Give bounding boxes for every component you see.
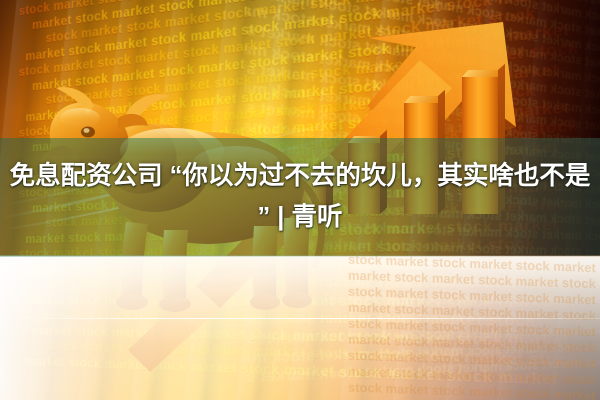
caption-line-2: ” | 青听 bbox=[2, 197, 598, 238]
caption-text: 免息配资公司 “你以为过不去的坎儿，其实啥也不是 ” | 青听 bbox=[0, 156, 600, 238]
caption-line-1: 免息配资公司 “你以为过不去的坎儿，其实啥也不是 bbox=[2, 156, 598, 197]
banner-image: stock market stock market stock market s… bbox=[0, 0, 600, 400]
text-wall-row-mirrored: stock market stock market stock market s… bbox=[244, 271, 600, 291]
